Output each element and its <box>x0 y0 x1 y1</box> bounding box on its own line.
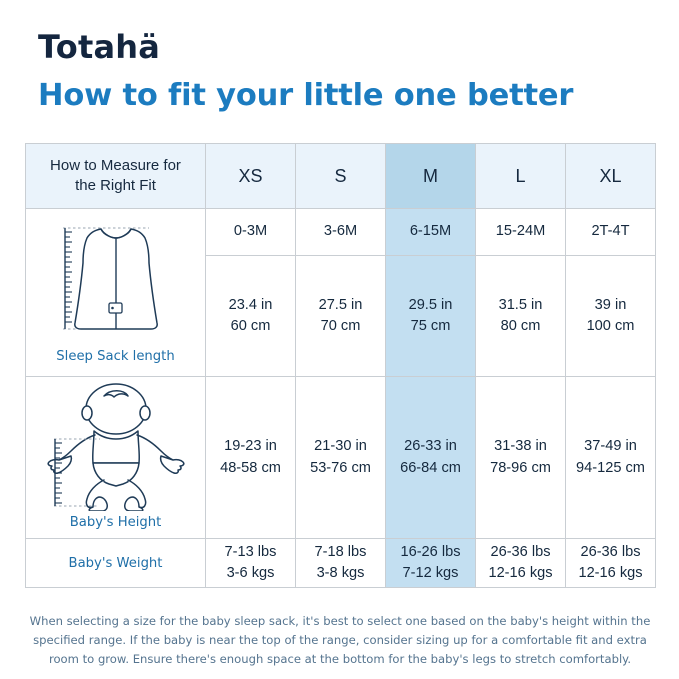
length-value-m: 29.5 in 75 cm <box>386 256 476 377</box>
size-header-s: S <box>296 144 386 209</box>
size-chart-page: Totahä How to fit your little one better… <box>0 0 679 679</box>
weight-value-m: 16-26 lbs 7-12 kgs <box>386 539 476 588</box>
length-cm-xl: 100 cm <box>566 316 655 337</box>
length-cm-m: 75 cm <box>386 316 475 337</box>
height-in-xs: 19-23 in <box>206 436 295 457</box>
weight-kgs-xs: 3-6 kgs <box>206 563 295 584</box>
height-cm-xl: 94-125 cm <box>566 458 655 479</box>
age-value-xl: 2T-4T <box>566 209 656 256</box>
weight-value-l: 26-36 lbs 12-16 kgs <box>476 539 566 588</box>
weight-kgs-l: 12-16 kgs <box>476 563 565 584</box>
brand-logo: Totahä <box>38 26 160 68</box>
size-header-l: L <box>476 144 566 209</box>
weight-kgs-xl: 12-16 kgs <box>566 563 655 584</box>
length-in-l: 31.5 in <box>476 295 565 316</box>
age-value-m: 6-15M <box>386 209 476 256</box>
age-value-xs: 0-3M <box>206 209 296 256</box>
length-value-xl: 39 in 100 cm <box>566 256 656 377</box>
sleep-sack-length-label: Sleep Sack length <box>56 349 174 364</box>
weight-lbs-l: 26-36 lbs <box>476 542 565 563</box>
table-header-row: How to Measure for the Right Fit XS S M … <box>26 144 656 209</box>
height-cm-m: 66-84 cm <box>386 458 475 479</box>
weight-value-s: 7-18 lbs 3-8 kgs <box>296 539 386 588</box>
weight-value-xl: 26-36 lbs 12-16 kgs <box>566 539 656 588</box>
sizing-footnote: When selecting a size for the baby sleep… <box>25 612 655 668</box>
weight-kgs-s: 3-8 kgs <box>296 563 385 584</box>
height-value-xs: 19-23 in 48-58 cm <box>206 377 296 539</box>
page-title: How to fit your little one better <box>38 78 573 113</box>
table-row-age: Sleep Sack length 0-3M 3-6M 6-15M 15-24M… <box>26 209 656 256</box>
weight-kgs-m: 7-12 kgs <box>386 563 475 584</box>
length-in-xs: 23.4 in <box>206 295 295 316</box>
weight-lbs-xl: 26-36 lbs <box>566 542 655 563</box>
measure-header: How to Measure for the Right Fit <box>26 144 206 209</box>
sleep-sack-illustration-cell: Sleep Sack length <box>26 209 206 377</box>
height-value-l: 31-38 in 78-96 cm <box>476 377 566 539</box>
table-row-baby-weight: Baby's Weight 7-13 lbs 3-6 kgs 7-18 lbs … <box>26 539 656 588</box>
baby-weight-label: Baby's Weight <box>26 539 206 588</box>
weight-lbs-s: 7-18 lbs <box>296 542 385 563</box>
baby-height-label: Baby's Height <box>70 515 162 530</box>
height-in-m: 26-33 in <box>386 436 475 457</box>
baby-illustration-cell: Baby's Height <box>26 377 206 539</box>
sleep-sack-illustration <box>41 219 191 345</box>
weight-lbs-m: 16-26 lbs <box>386 542 475 563</box>
age-value-l: 15-24M <box>476 209 566 256</box>
height-cm-s: 53-76 cm <box>296 458 385 479</box>
weight-value-xs: 7-13 lbs 3-6 kgs <box>206 539 296 588</box>
size-header-m: M <box>386 144 476 209</box>
baby-illustration <box>38 383 193 511</box>
size-chart-table: How to Measure for the Right Fit XS S M … <box>25 143 656 588</box>
height-value-s: 21-30 in 53-76 cm <box>296 377 386 539</box>
length-in-m: 29.5 in <box>386 295 475 316</box>
height-value-m: 26-33 in 66-84 cm <box>386 377 476 539</box>
length-value-l: 31.5 in 80 cm <box>476 256 566 377</box>
brand-name: Totahä <box>38 31 160 63</box>
length-value-xs: 23.4 in 60 cm <box>206 256 296 377</box>
age-value-s: 3-6M <box>296 209 386 256</box>
height-cm-xs: 48-58 cm <box>206 458 295 479</box>
size-header-xl: XL <box>566 144 656 209</box>
table-row-baby-height: Baby's Height 19-23 in 48-58 cm 21-30 in… <box>26 377 656 539</box>
length-cm-s: 70 cm <box>296 316 385 337</box>
length-in-xl: 39 in <box>566 295 655 316</box>
height-in-l: 31-38 in <box>476 436 565 457</box>
height-value-xl: 37-49 in 94-125 cm <box>566 377 656 539</box>
length-value-s: 27.5 in 70 cm <box>296 256 386 377</box>
size-header-xs: XS <box>206 144 296 209</box>
height-in-s: 21-30 in <box>296 436 385 457</box>
weight-lbs-xs: 7-13 lbs <box>206 542 295 563</box>
height-cm-l: 78-96 cm <box>476 458 565 479</box>
length-in-s: 27.5 in <box>296 295 385 316</box>
length-cm-xs: 60 cm <box>206 316 295 337</box>
height-in-xl: 37-49 in <box>566 436 655 457</box>
length-cm-l: 80 cm <box>476 316 565 337</box>
